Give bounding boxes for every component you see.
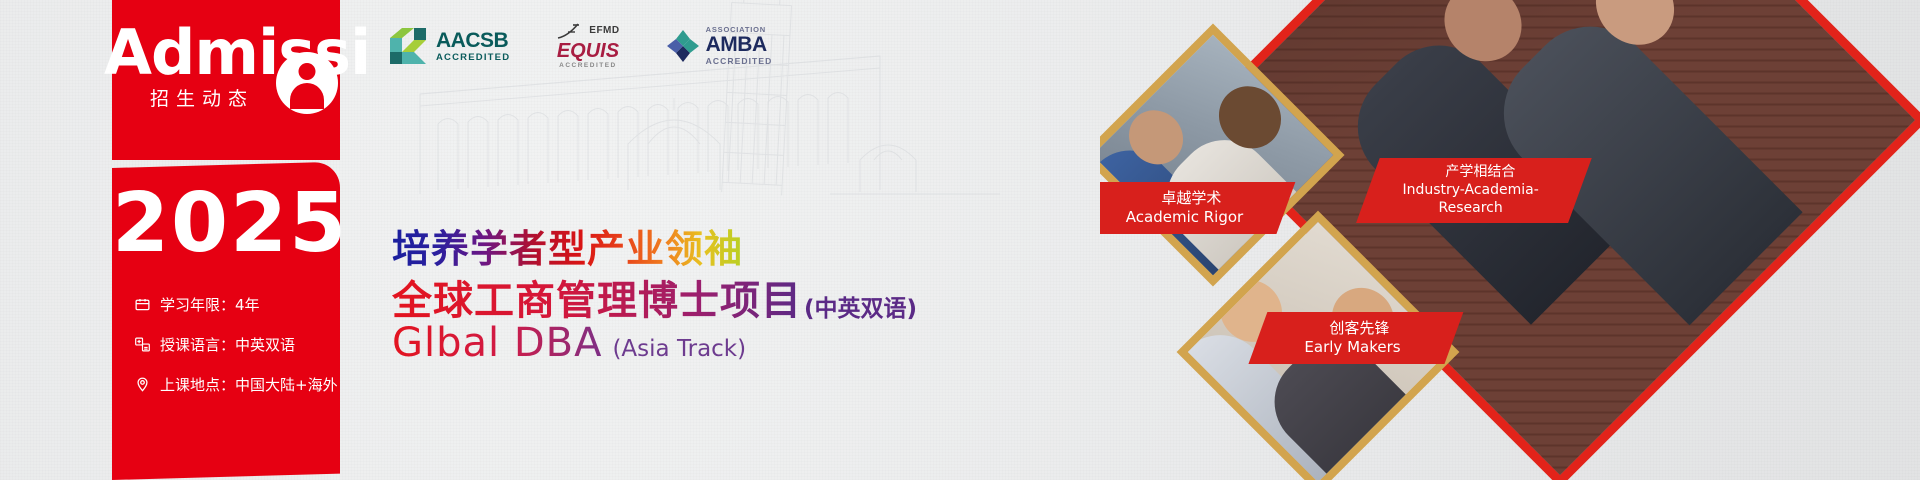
program-title-cn-note: (中英双语) <box>804 289 917 326</box>
highlight-academic-cn: 卓越学术 <box>1101 189 1281 208</box>
program-title-en-main: Glbal DBA <box>392 320 602 366</box>
amba-title: AMBA <box>706 34 773 55</box>
efmd-swoosh-icon <box>556 22 584 40</box>
equis-title: EQUIS <box>557 41 619 61</box>
person-circle-icon <box>276 52 338 114</box>
aacsb-subtitle: ACCREDITED <box>436 53 510 63</box>
amba-org: ASSOCIATION <box>706 26 773 34</box>
info-row-language: 授课语言：中英双语 <box>134 334 344 355</box>
program-title-en: Glbal DBA (Asia Track) <box>392 320 746 366</box>
language-icon <box>134 336 151 353</box>
highlight-industry-cn: 产学相结合 <box>1382 164 1578 182</box>
highlight-label-academic: 卓越学术 Academic Rigor <box>1100 182 1295 234</box>
year-label: 2025 <box>112 176 340 271</box>
aacsb-mark-icon <box>388 26 428 66</box>
calendar-icon <box>134 296 151 313</box>
info-label-language: 授课语言：中英双语 <box>160 334 295 355</box>
amba-logo: ASSOCIATION AMBA ACCREDITED <box>666 26 773 66</box>
efmd-label: EFMD <box>589 26 619 36</box>
admission-logo-subtitle: 招生动态 <box>150 84 254 111</box>
center-content: AACSB ACCREDITED EFMD EQUIS ACCR <box>340 0 1160 480</box>
info-row-duration: 学习年限：4年 <box>134 294 344 315</box>
program-title-en-note: (Asia Track) <box>612 336 746 366</box>
aacsb-title: AACSB <box>436 30 510 51</box>
left-red-panel: Admissi 招生动态 2025 学习年限：4年 <box>112 0 340 480</box>
info-label-duration: 学习年限：4年 <box>160 294 260 315</box>
highlight-label-industry: 产学相结合 Industry-Academia-Research <box>1356 158 1591 223</box>
program-title-cn-main: 全球工商管理博士项目 <box>392 268 802 326</box>
highlight-academic-en: Academic Rigor <box>1100 208 1275 227</box>
amba-diamond-icon <box>666 29 700 63</box>
program-title-cn: 全球工商管理博士项目 (中英双语) <box>392 268 917 326</box>
admission-logo: Admissi 招生动态 <box>112 22 364 114</box>
aacsb-logo: AACSB ACCREDITED <box>388 26 510 66</box>
equis-subtitle: ACCREDITED <box>559 63 617 70</box>
tagline: 培养学者型产业领袖 <box>392 218 743 273</box>
location-pin-icon <box>134 376 151 393</box>
photo-collage: 卓越学术 Academic Rigor 产学相结合 Industry-Acade… <box>1100 0 1920 480</box>
info-label-location: 上课地点：中国大陆+海外 <box>160 374 338 395</box>
amba-subtitle: ACCREDITED <box>706 57 773 66</box>
highlight-label-makers: 创客先锋 Early Makers <box>1249 312 1464 364</box>
equis-logo: EFMD EQUIS ACCREDITED <box>556 22 619 70</box>
highlight-makers-en: Early Makers <box>1263 338 1443 357</box>
accreditation-logos: AACSB ACCREDITED EFMD EQUIS ACCR <box>388 22 772 70</box>
program-info-list: 学习年限：4年 授课语言：中英双语 <box>134 294 344 414</box>
admission-banner: Admissi 招生动态 2025 学习年限：4年 <box>0 0 1920 480</box>
info-row-location: 上课地点：中国大陆+海外 <box>134 374 344 395</box>
highlight-makers-cn: 创客先锋 <box>1269 319 1449 338</box>
highlight-industry-en: Industry-Academia-Research <box>1373 182 1569 217</box>
